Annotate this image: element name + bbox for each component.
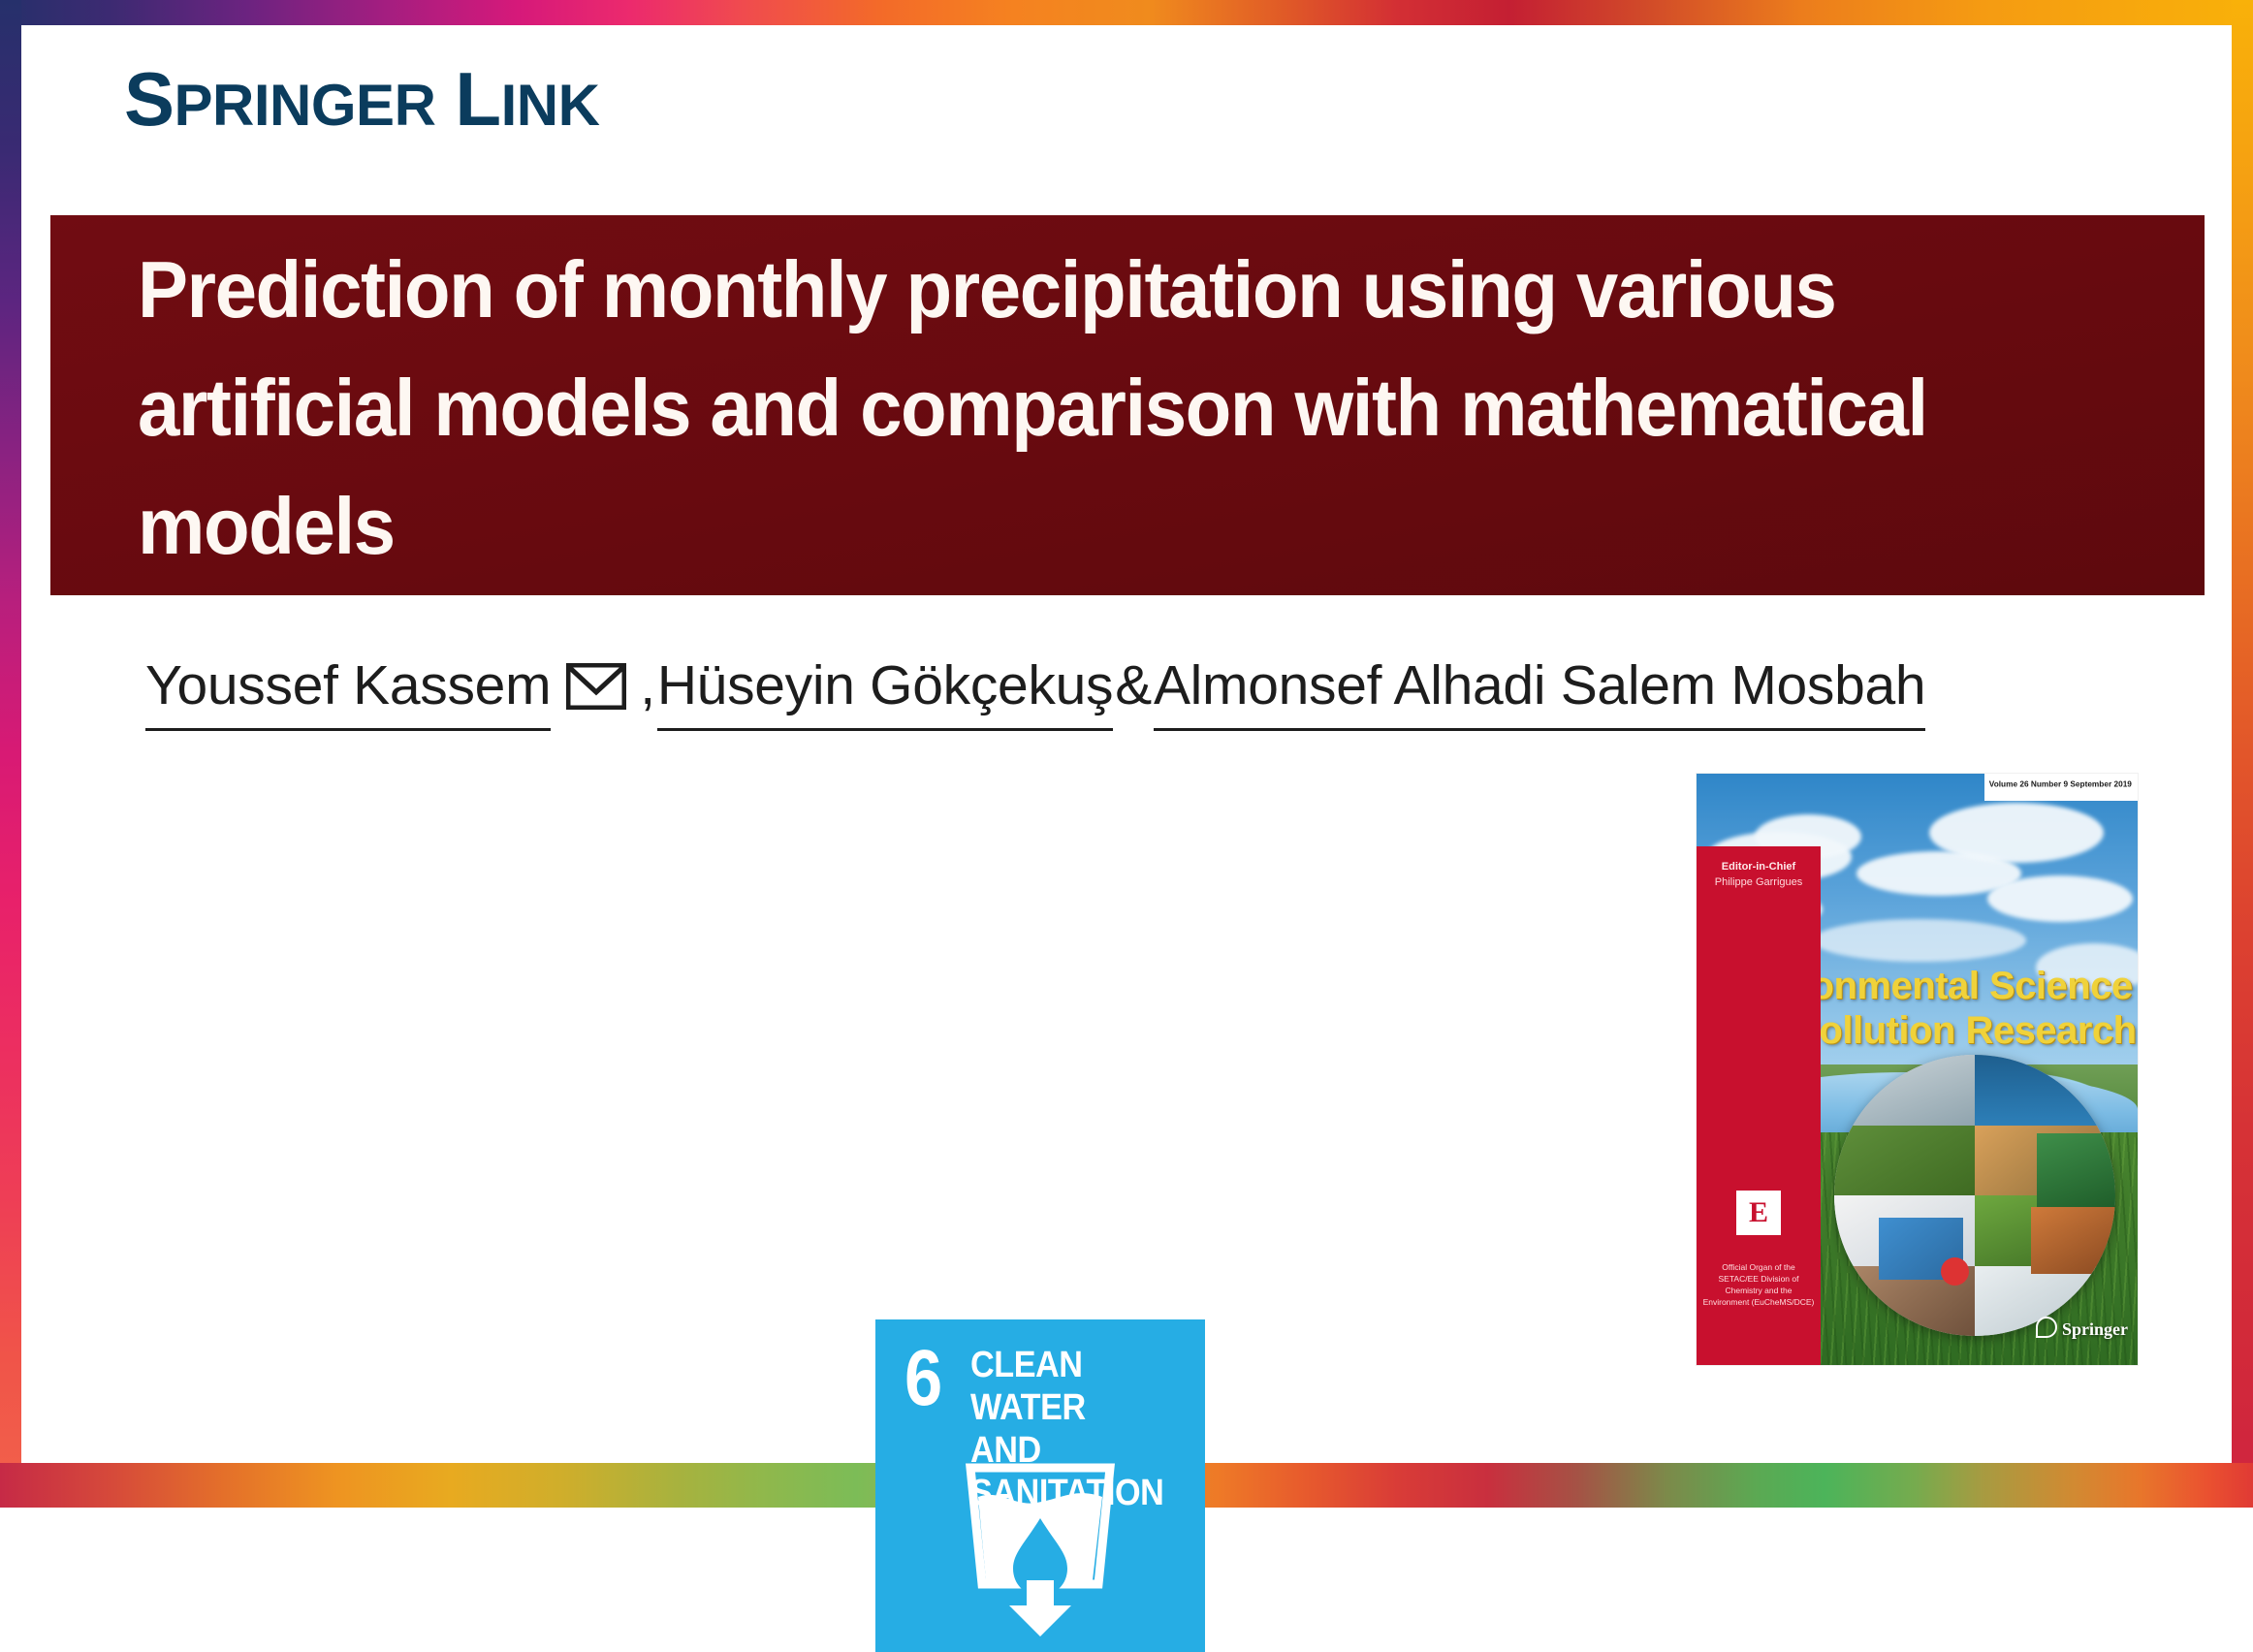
springerlink-logo[interactable]: SPRINGERLINK <box>124 61 599 143</box>
author-link-1[interactable]: Youssef Kassem <box>145 651 551 731</box>
water-glass-droplet-arrow-icon <box>957 1460 1124 1639</box>
author-link-3[interactable]: Almonsef Alhadi Salem Mosbah <box>1154 651 1925 731</box>
envelope-icon[interactable] <box>566 657 626 704</box>
article-header-card: SPRINGERLINK Prediction of monthly preci… <box>0 0 2253 1652</box>
cover-issue-box: Volume 26 Number 9 September 2019 <box>1984 774 2138 801</box>
sdg-badge-clean-water[interactable]: 6 CLEAN WATER AND SANITATION <box>875 1319 1205 1652</box>
author-list: Youssef Kassem, Hüseyin Gökçekuş & Almon… <box>145 651 1925 731</box>
cloud-shape <box>1813 919 2026 962</box>
page-title: Prediction of monthly precipitation usin… <box>138 231 2033 586</box>
springer-publisher-logo: Springer <box>2036 1317 2128 1340</box>
journal-cover-image[interactable]: Volume 26 Number 9 September 2019 Enviro… <box>1697 774 2138 1365</box>
cover-editor-name: Philippe Garrigues <box>1697 875 1821 890</box>
author-link-2[interactable]: Hüseyin Gökçekuş <box>657 651 1113 731</box>
author-separator-comma: , <box>638 651 657 719</box>
sdg-number: 6 <box>904 1339 942 1418</box>
springer-wordmark: Springer <box>2062 1319 2128 1339</box>
title-banner: Prediction of monthly precipitation usin… <box>50 215 2205 595</box>
cover-title-rest: Pollution Research <box>1793 1009 2136 1052</box>
cloud-shape <box>1929 803 2104 863</box>
cover-issue-line: Volume 26 Number 9 September 2019 <box>1989 779 2132 788</box>
cover-editor-label: Editor-in-Chief <box>1697 860 1821 874</box>
logo-link-initial: L <box>455 56 500 142</box>
cover-society-note: Official Organ of the SETAC/EE Division … <box>1702 1261 1815 1308</box>
cloud-shape <box>1987 875 2133 922</box>
logo-link-rest: INK <box>501 73 600 138</box>
logo-springer-initial: S <box>124 56 175 142</box>
sdg-label-line-1: CLEAN WATER <box>970 1344 1171 1429</box>
cover-photo-collage <box>1834 1055 2115 1336</box>
society-emblem-icon <box>1736 1191 1781 1235</box>
logo-springer-rest: PRINGER <box>175 73 436 138</box>
author-separator-amp: & <box>1113 651 1154 719</box>
springer-horse-icon <box>2036 1317 2057 1338</box>
cover-red-sidebar: Editor-in-Chief Philippe Garrigues Offic… <box>1697 846 1821 1365</box>
